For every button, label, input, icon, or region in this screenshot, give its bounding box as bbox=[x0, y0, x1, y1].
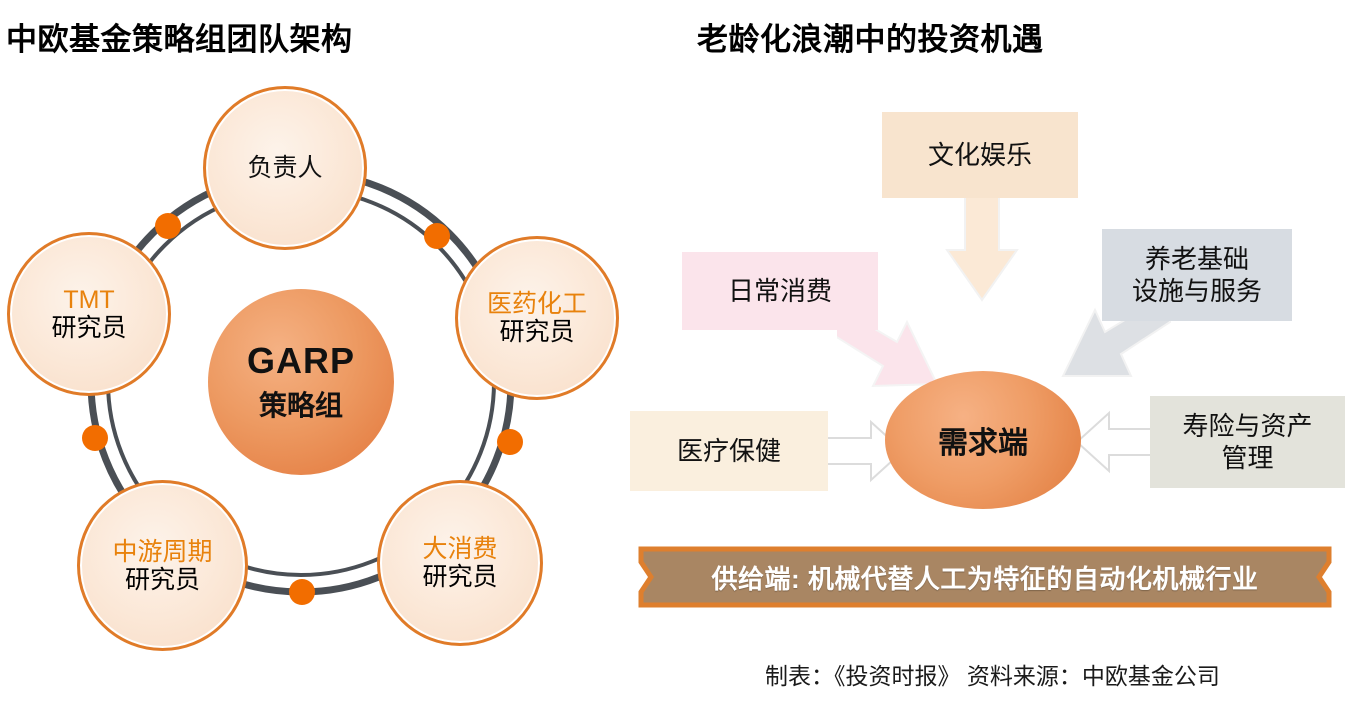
org-node-cycle[interactable]: 中游周期 研究员 bbox=[77, 480, 248, 651]
box-daily[interactable]: 日常消费 bbox=[682, 252, 878, 330]
right-panel-title: 老龄化浪潮中的投资机遇 bbox=[697, 14, 1044, 59]
box-daily-label: 日常消费 bbox=[728, 275, 832, 308]
box-insure-label: 寿险与资产 管理 bbox=[1182, 410, 1312, 475]
hub-demand-label: 需求端 bbox=[938, 418, 1028, 462]
org-node-pharma-role: 研究员 bbox=[499, 318, 574, 346]
box-insure[interactable]: 寿险与资产 管理 bbox=[1150, 396, 1345, 488]
supply-band[interactable]: 供给端: 机械代替人工为特征的自动化机械行业 bbox=[635, 546, 1335, 608]
box-culture-label: 文化娱乐 bbox=[928, 139, 1032, 172]
org-node-tmt[interactable]: TMT 研究员 bbox=[7, 232, 171, 396]
org-center-garp[interactable]: GARP 策略组 bbox=[208, 289, 394, 475]
org-node-lead[interactable]: 负责人 bbox=[203, 86, 367, 250]
box-elder[interactable]: 养老基础 设施与服务 bbox=[1102, 229, 1292, 321]
arrow-down-icon bbox=[935, 188, 1045, 308]
org-ring-diagram: 负责人 TMT 研究员 医药化工 研究员 中游周期 研究员 大消费 研究员 GA… bbox=[55, 128, 565, 618]
arrow-left-icon bbox=[1075, 409, 1155, 475]
org-node-tmt-title: TMT bbox=[63, 286, 114, 314]
box-elder-label: 养老基础 设施与服务 bbox=[1132, 243, 1262, 308]
box-medical-label: 医疗保健 bbox=[677, 435, 781, 468]
left-panel-title: 中欧基金策略组团队架构 bbox=[6, 14, 353, 59]
org-node-tmt-role: 研究员 bbox=[51, 314, 126, 342]
org-node-pharma-title: 医药化工 bbox=[487, 290, 587, 318]
org-center-line2: 策略组 bbox=[259, 384, 343, 424]
supply-band-label: 供给端: 机械代替人工为特征的自动化机械行业 bbox=[635, 546, 1335, 608]
org-node-cycle-role: 研究员 bbox=[125, 566, 200, 594]
org-node-consume[interactable]: 大消费 研究员 bbox=[377, 480, 543, 646]
right-panel: 老龄化浪潮中的投资机遇 文化娱乐 日常消费 养老基础 设施与服务 医疗保健 寿险… bbox=[677, 0, 1354, 709]
hub-demand-oval[interactable]: 需求端 bbox=[885, 371, 1081, 509]
box-culture[interactable]: 文化娱乐 bbox=[882, 112, 1078, 198]
org-node-consume-title: 大消费 bbox=[422, 535, 497, 563]
org-node-pharma[interactable]: 医药化工 研究员 bbox=[455, 236, 619, 400]
box-medical[interactable]: 医疗保健 bbox=[630, 411, 828, 491]
org-node-consume-role: 研究员 bbox=[422, 563, 497, 591]
org-node-cycle-title: 中游周期 bbox=[112, 538, 212, 566]
org-center-line1: GARP bbox=[247, 340, 355, 382]
left-panel: 中欧基金策略组团队架构 负责人 TMT 研究员 医药化工 研究员 bbox=[0, 0, 677, 709]
footer-source-note: 制表：《投资时报》 资料来源：中欧基金公司 bbox=[765, 657, 1220, 691]
org-node-lead-label: 负责人 bbox=[247, 154, 322, 182]
